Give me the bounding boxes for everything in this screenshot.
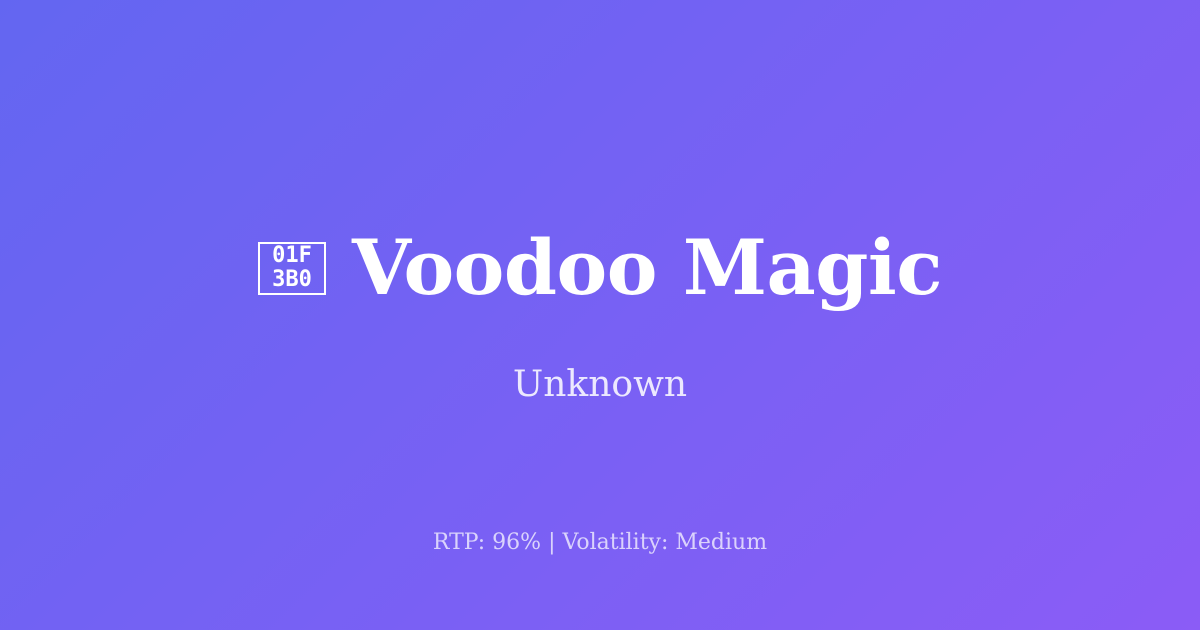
- slot-machine-icon-codepoint-top: 01F: [272, 244, 312, 268]
- title-row: 01F 3B0 Voodoo Magic: [0, 226, 1200, 310]
- provider-subtitle: Unknown: [0, 362, 1200, 408]
- hero-section: 01F 3B0 Voodoo Magic Unknown RTP: 96% | …: [0, 0, 1200, 630]
- slot-machine-icon-codepoint-bottom: 3B0: [272, 268, 312, 292]
- page-title: Voodoo Magic: [352, 226, 942, 310]
- slot-game-card: { "theme": { "gradient_start": "#6366f1"…: [0, 0, 1200, 630]
- slot-machine-icon: 01F 3B0: [258, 242, 326, 295]
- game-stats-footer: RTP: 96% | Volatility: Medium: [0, 528, 1200, 558]
